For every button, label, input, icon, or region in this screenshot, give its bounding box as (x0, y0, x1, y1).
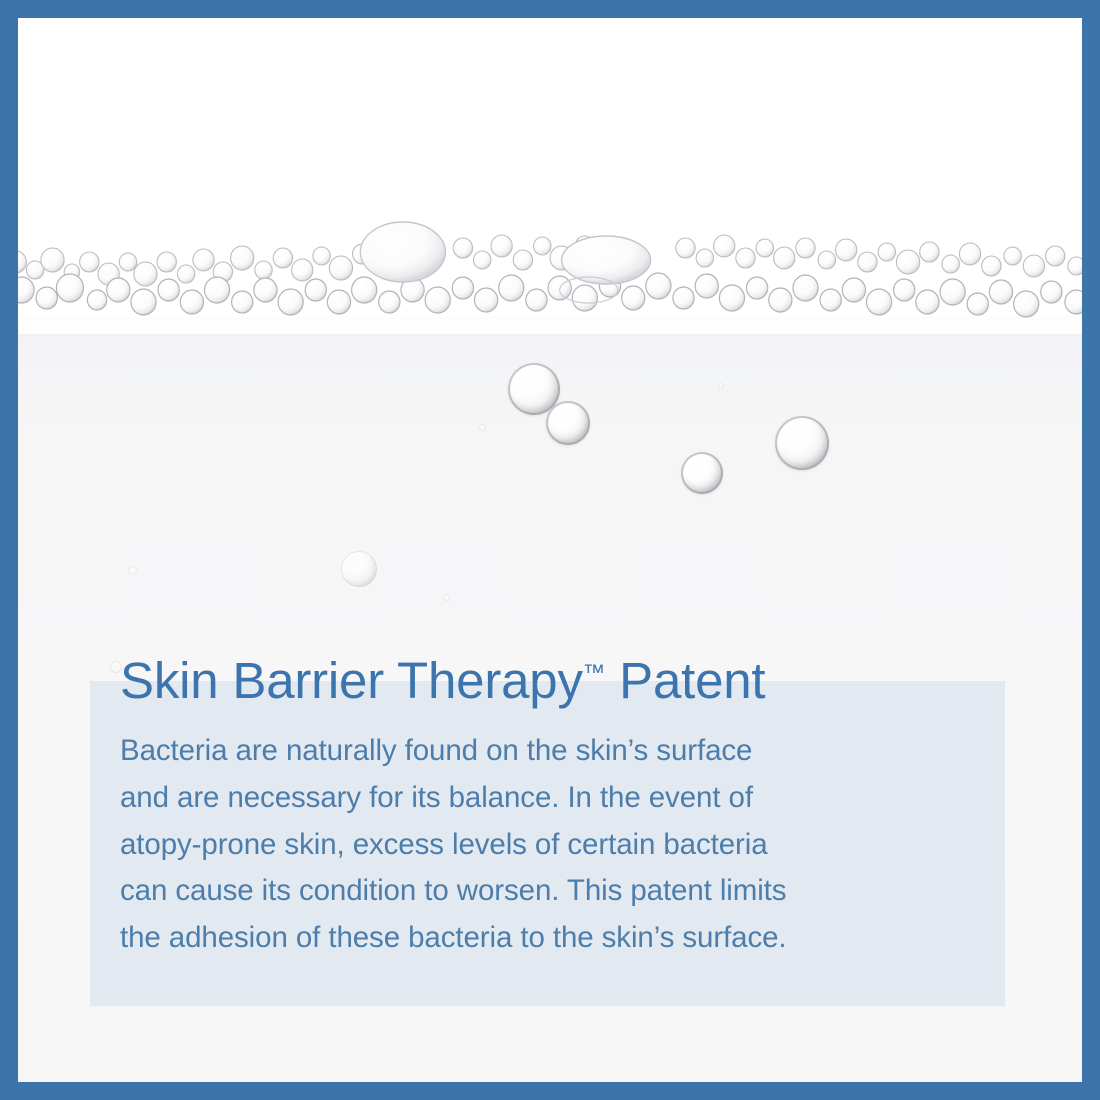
page-title: Skin Barrier Therapy™ Patent (120, 654, 980, 708)
bubble-medium-below-left (546, 401, 590, 445)
caption-line-1: Bacteria are naturally found on the skin… (120, 728, 980, 775)
bubble-small-lower-left (341, 551, 377, 587)
caption-body: Bacteria are naturally found on the skin… (120, 728, 980, 962)
bubble-tiny-lower-center (443, 594, 450, 601)
bubble-ring-right (775, 416, 829, 470)
caption-line-4: can cause its condition to worsen. This … (120, 868, 980, 915)
title-suffix: Patent (605, 652, 765, 709)
caption-line-2: and are necessary for its balance. In th… (120, 775, 980, 822)
title-main: Skin Barrier Therapy (120, 652, 583, 709)
caption-line-3: atopy-prone skin, excess levels of certa… (120, 822, 980, 869)
bubble-small-center (681, 452, 723, 494)
trademark-symbol: ™ (583, 660, 605, 685)
bordered-card: Skin Barrier Therapy™ Patent Bacteria ar… (0, 0, 1100, 1100)
caption-text-block: Skin Barrier Therapy™ Patent Bacteria ar… (120, 654, 980, 962)
bubble-tiny-left-edge (128, 566, 137, 575)
bubble-tiny-mid-left (479, 424, 486, 431)
photo-canvas: Skin Barrier Therapy™ Patent Bacteria ar… (18, 18, 1082, 1082)
foam-band (18, 204, 1082, 334)
caption-line-5: the adhesion of these bacteria to the sk… (120, 915, 980, 962)
bubble-tiny-mid-right (718, 383, 724, 389)
